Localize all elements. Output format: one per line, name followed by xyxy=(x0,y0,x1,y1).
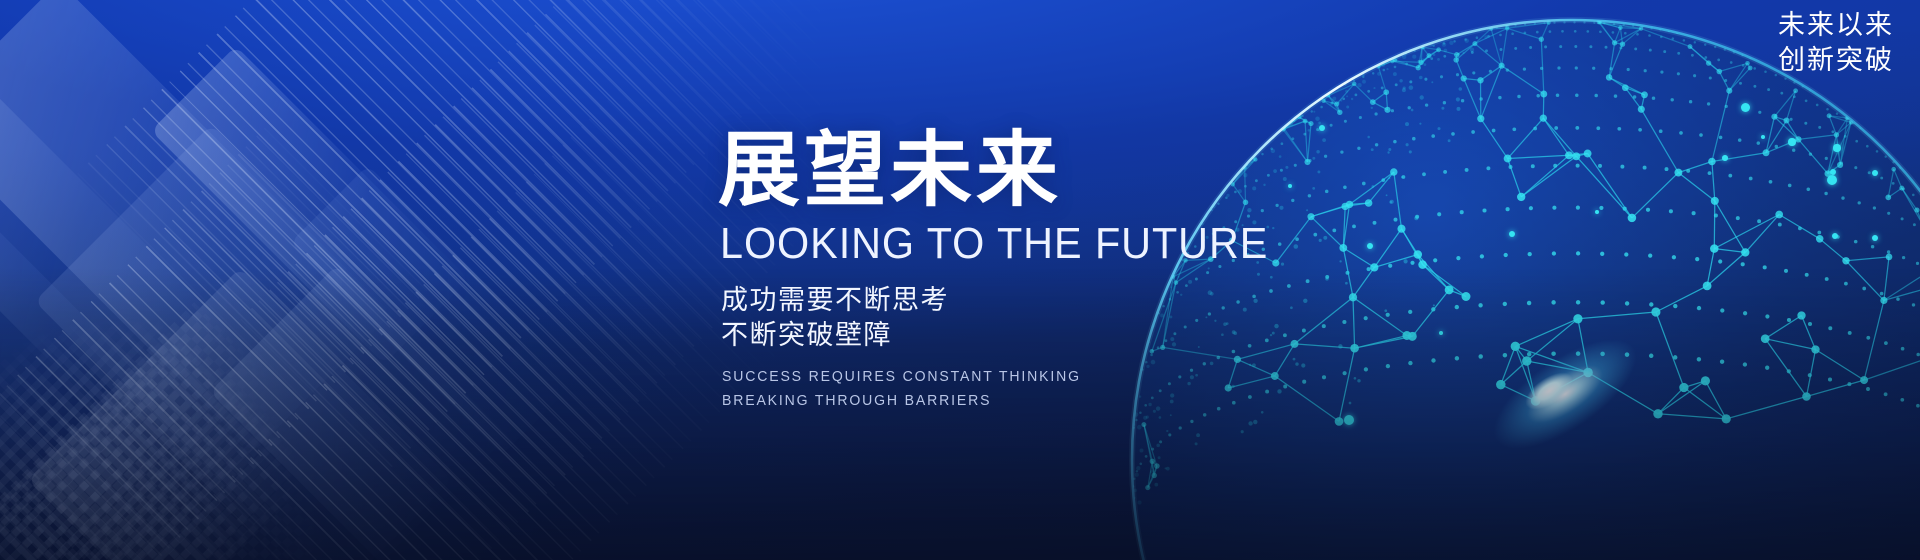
hero-copy: 展望未来 LOOKING TO THE FUTURE 成功需要不断思考 不断突破… xyxy=(718,128,1338,413)
particle-dot xyxy=(1872,170,1878,176)
hero-banner: 展望未来 LOOKING TO THE FUTURE 成功需要不断思考 不断突破… xyxy=(0,0,1920,560)
subtitle-en: SUCCESS REQUIRES CONSTANT THINKING BREAK… xyxy=(722,366,1320,413)
subtitle-cn-line-2: 不断突破壁障 xyxy=(721,318,1338,354)
slab-4 xyxy=(151,46,469,364)
particle-dot xyxy=(1344,415,1354,425)
rim-flare-glow-icon xyxy=(1443,290,1687,498)
particle-dot xyxy=(1741,103,1750,112)
slab-1 xyxy=(0,0,391,452)
subtitle-en-line-1: SUCCESS REQUIRES CONSTANT THINKING xyxy=(722,366,1320,389)
particle-dot xyxy=(1509,231,1515,237)
subtitle-en-line-2: BREAKING THROUGH BARRIERS xyxy=(722,390,1320,413)
corner-slogan-line-1: 未来以来 xyxy=(1778,8,1894,43)
rim-flare-core-icon xyxy=(1519,365,1578,417)
particle-dot xyxy=(1722,155,1728,161)
geometry-clip xyxy=(0,0,820,560)
hairlines-top xyxy=(69,0,820,486)
particle-dot xyxy=(1761,135,1766,140)
slab-5 xyxy=(0,221,244,560)
page-title-en: LOOKING TO THE FUTURE xyxy=(720,219,1301,268)
subtitle-cn: 成功需要不断思考 不断突破壁障 xyxy=(721,283,1338,355)
particle-dot xyxy=(1367,243,1373,249)
page-title: 展望未来 xyxy=(718,128,1338,213)
slab-8 xyxy=(290,165,580,455)
checker-grid-secondary-icon xyxy=(0,302,378,560)
hairlines-faint xyxy=(0,115,440,560)
corner-slogan-line-2: 创新突破 xyxy=(1778,43,1894,78)
checker-grid-icon xyxy=(0,257,318,560)
particle-dot xyxy=(1832,233,1839,240)
particle-dot xyxy=(1595,210,1599,214)
particle-dot xyxy=(1439,331,1444,336)
particle-dot xyxy=(1827,175,1837,185)
subtitle-cn-line-1: 成功需要不断思考 xyxy=(721,283,1338,319)
slab-2 xyxy=(0,46,229,435)
particle-dot xyxy=(1833,144,1840,151)
slab-3 xyxy=(35,125,516,560)
particle-dot xyxy=(1788,138,1795,145)
slab-7 xyxy=(28,268,452,560)
slab-6 xyxy=(210,265,571,560)
corner-slogan: 未来以来 创新突破 xyxy=(1778,8,1894,78)
particle-dot xyxy=(1872,235,1878,241)
